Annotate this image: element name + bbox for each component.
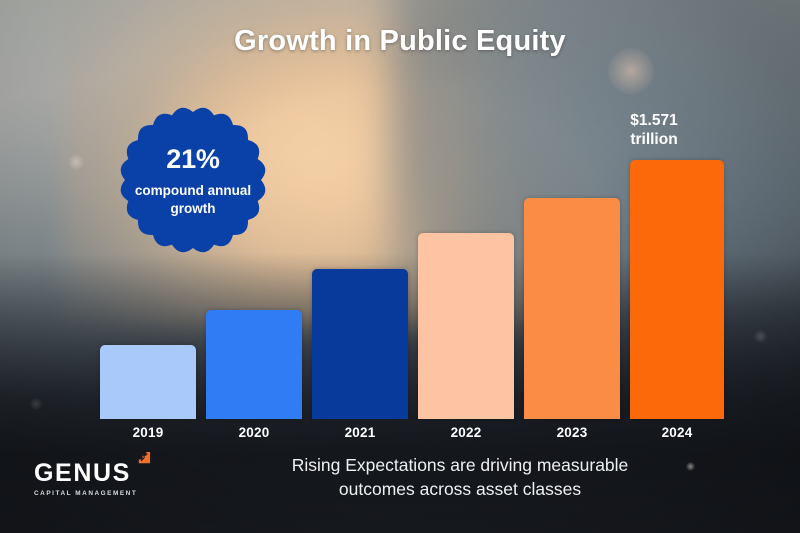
logo-tagline: CAPITAL MANAGEMENT [34,490,146,497]
badge-percent: 21% [166,146,219,173]
bar-label-2024: 2024 [630,425,724,440]
caption-line-2: outcomes across asset classes [160,478,760,501]
slide-caption: Rising Expectations are driving measurab… [160,454,760,501]
company-logo: GENUS CAPITAL MANAGEMENT [34,461,146,497]
bar-2023 [524,198,620,419]
badge-sublabel: compound annual growth [131,182,255,218]
growth-badge: 21% compound annual growth [110,98,276,262]
logo-chevron-mark-icon [136,451,151,466]
value-callout: $1.571 trillion [594,112,714,149]
bar-label-2023: 2023 [524,425,620,440]
value-callout-line2: trillion [594,131,714,150]
caption-line-1: Rising Expectations are driving measurab… [160,454,760,477]
badge-text: 21% compound annual growth [110,98,276,262]
bar-chart: 201920202021202220232024 [0,0,800,533]
slide-canvas: Growth in Public Equity 2019202020212022… [0,0,800,533]
bar-label-2020: 2020 [206,425,302,440]
bar-2020 [206,310,302,419]
bar-label-2022: 2022 [418,425,514,440]
bar-label-2021: 2021 [312,425,408,440]
logo-wordmark-row: GENUS [34,461,146,486]
bar-2019 [100,345,196,419]
bar-2021 [312,269,408,419]
value-callout-line1: $1.571 [594,112,714,131]
bar-2024 [630,160,724,419]
logo-wordmark: GENUS [34,461,146,486]
bar-label-2019: 2019 [100,425,196,440]
bar-2022 [418,233,514,419]
